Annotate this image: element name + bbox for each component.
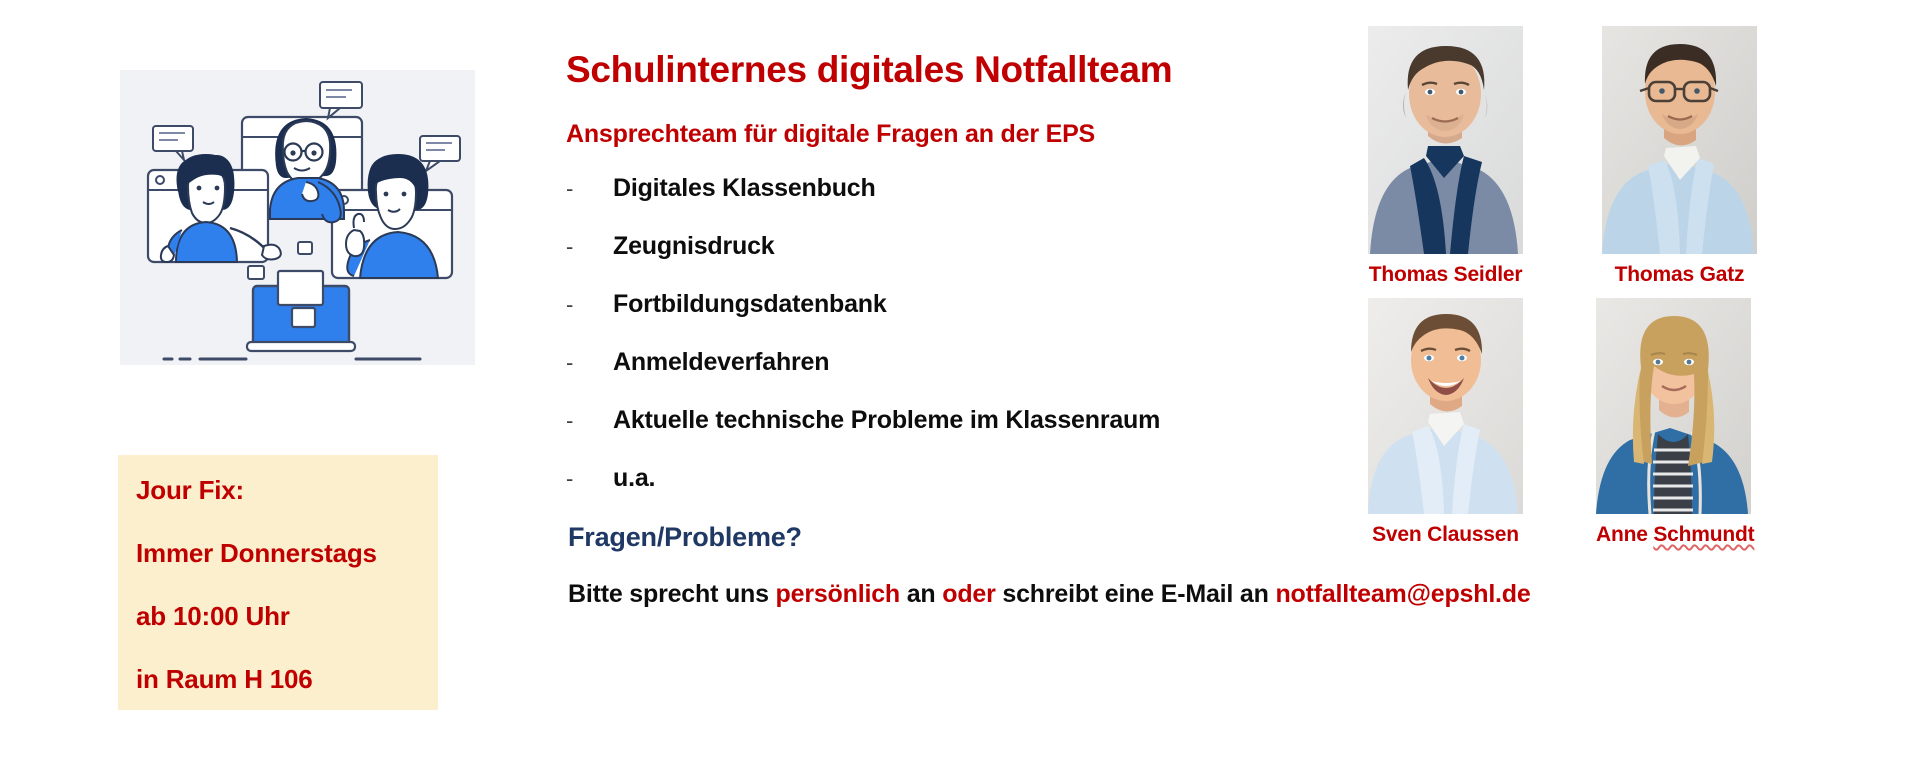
list-item: - Digitales Klassenbuch bbox=[566, 174, 1326, 203]
list-item-label: u.a. bbox=[613, 464, 655, 493]
bullet-dash-icon: - bbox=[566, 176, 613, 202]
name-text-prefix: Anne bbox=[1596, 523, 1653, 546]
contact-email[interactable]: notfallteam@epshl.de bbox=[1275, 580, 1530, 608]
avatar bbox=[1368, 298, 1523, 514]
team-photo-grid: Thomas Seidler bbox=[1368, 26, 1878, 547]
jour-fix-line-2: Immer Donnerstags bbox=[136, 540, 438, 566]
list-item: - Anmeldeverfahren bbox=[566, 348, 1326, 377]
video-call-illustration bbox=[120, 70, 475, 365]
team-member-name: Thomas Seidler bbox=[1368, 263, 1523, 287]
topics-list: - Digitales Klassenbuch - Zeugnisdruck -… bbox=[566, 174, 1326, 493]
list-item: - u.a. bbox=[566, 464, 1326, 493]
name-text: Sven Claussen bbox=[1372, 523, 1519, 546]
team-member-name: Sven Claussen bbox=[1368, 523, 1523, 547]
bullet-dash-icon: - bbox=[566, 408, 613, 434]
closing-highlight-or: oder bbox=[942, 580, 995, 608]
bullet-dash-icon: - bbox=[566, 234, 613, 260]
closing-highlight-personal: persönlich bbox=[776, 580, 900, 608]
list-item-label: Fortbildungsdatenbank bbox=[613, 290, 887, 319]
list-item: - Zeugnisdruck bbox=[566, 232, 1326, 261]
bullet-dash-icon: - bbox=[566, 292, 613, 318]
team-member-card: Sven Claussen bbox=[1368, 298, 1523, 547]
avatar bbox=[1368, 26, 1523, 254]
closing-part-1: Bitte sprecht uns bbox=[568, 580, 776, 608]
team-member-card: Thomas Seidler bbox=[1368, 26, 1523, 287]
list-item-label: Zeugnisdruck bbox=[613, 232, 775, 261]
jour-fix-line-1: Jour Fix: bbox=[136, 477, 438, 503]
avatar bbox=[1602, 26, 1757, 254]
closing-part-2: an bbox=[900, 580, 942, 608]
jour-fix-line-3: ab 10:00 Uhr bbox=[136, 603, 438, 629]
list-item-label: Anmeldeverfahren bbox=[613, 348, 829, 377]
name-text: Thomas Seidler bbox=[1369, 263, 1523, 286]
jour-fix-line-4: in Raum H 106 bbox=[136, 666, 438, 692]
page-title: Schulinternes digitales Notfallteam bbox=[566, 50, 1326, 91]
closing-line: Bitte sprecht uns persönlich an oder sch… bbox=[568, 580, 1326, 609]
list-item: - Aktuelle technische Probleme im Klasse… bbox=[566, 406, 1326, 435]
avatar bbox=[1596, 298, 1751, 514]
list-item: - Fortbildungsdatenbank bbox=[566, 290, 1326, 319]
closing-part-3: schreibt eine E-Mail an bbox=[996, 580, 1276, 608]
bullet-dash-icon: - bbox=[566, 466, 613, 492]
team-member-card: Thomas Gatz bbox=[1602, 26, 1757, 287]
team-member-card: Anne Schmundt bbox=[1596, 298, 1751, 547]
team-member-name: Anne Schmundt bbox=[1596, 523, 1751, 547]
list-item-label: Aktuelle technische Probleme im Klassenr… bbox=[613, 406, 1160, 435]
slide-canvas: Jour Fix: Immer Donnerstags ab 10:00 Uhr… bbox=[0, 0, 1908, 778]
name-text: Thomas Gatz bbox=[1615, 263, 1745, 286]
team-member-name: Thomas Gatz bbox=[1602, 263, 1757, 287]
list-item-label: Digitales Klassenbuch bbox=[613, 174, 876, 203]
team-row-2: Sven Claussen bbox=[1368, 298, 1878, 547]
questions-heading: Fragen/Probleme? bbox=[568, 522, 1326, 553]
bullet-dash-icon: - bbox=[566, 350, 613, 376]
team-row-1: Thomas Seidler bbox=[1368, 26, 1878, 287]
jour-fix-box: Jour Fix: Immer Donnerstags ab 10:00 Uhr… bbox=[118, 455, 438, 710]
name-text-misspelled: Schmundt bbox=[1653, 523, 1754, 546]
main-content: Schulinternes digitales Notfallteam Ansp… bbox=[566, 50, 1326, 609]
page-subtitle: Ansprechteam für digitale Fragen an der … bbox=[566, 121, 1326, 149]
